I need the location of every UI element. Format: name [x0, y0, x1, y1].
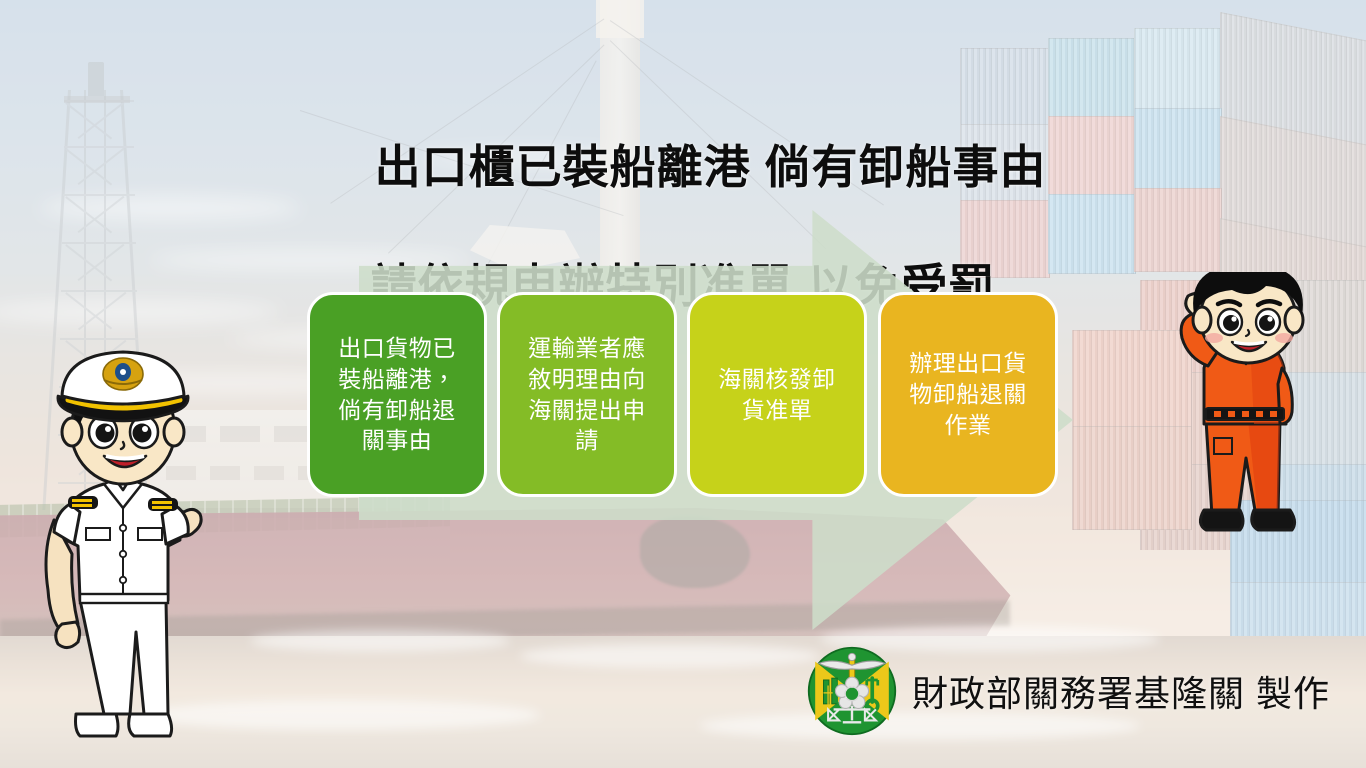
process-step-3-label: 海關核發卸 貨准單	[706, 364, 848, 426]
process-step-2-label: 運輸業者應 敘明理由向 海關提出申 請	[516, 333, 658, 456]
wave-foam	[250, 630, 510, 652]
process-step-2[interactable]: 運輸業者應 敘明理由向 海關提出申 請	[497, 292, 677, 497]
process-step-3[interactable]: 海關核發卸 貨准單	[687, 292, 867, 497]
wave-foam	[520, 644, 820, 668]
page-title-line1: 出口櫃已裝船離港 倘有卸船事由	[375, 141, 1047, 193]
footer: 財政部關務署基隆關 製作	[806, 645, 1330, 737]
process-step-1-label: 出口貨物已 裝船離港， 倘有卸船退 關事由	[326, 333, 468, 456]
process-step-4[interactable]: 辦理出口貨 物卸船退關 作業	[878, 292, 1058, 497]
process-step-4-label: 辦理出口貨 物卸船退關 作業	[897, 348, 1039, 440]
dock-worker-mascot	[1162, 272, 1348, 602]
process-step-1[interactable]: 出口貨物已 裝船離港， 倘有卸船退 關事由	[307, 292, 487, 497]
captain-mascot	[18, 332, 228, 762]
customs-logo-icon	[806, 645, 898, 737]
footer-text: 財政部關務署基隆關 製作	[912, 665, 1330, 717]
slide-canvas: 出口櫃已裝船離港 倘有卸船事由 請依規申辦特別准單 以免受罰 出口貨物已 裝船離…	[0, 0, 1366, 768]
